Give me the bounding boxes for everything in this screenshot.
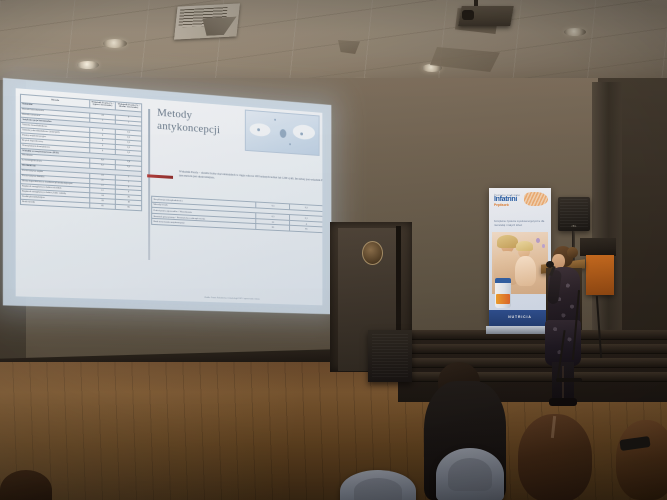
table-cell-ideal: 85 xyxy=(116,205,142,211)
porthole-window-icon xyxy=(362,241,383,265)
table-cell-ideal: 85 xyxy=(290,226,323,233)
red-accent-bar xyxy=(147,174,173,179)
permanent-methods-table: Sterylizacja (ubezpłodnienie)0,50,5Metod… xyxy=(151,196,322,233)
speaker-brand-badge: JBL xyxy=(571,225,577,228)
slide-left-column: Metoda Wskaźnik Pearla (% / typowe stoso… xyxy=(16,88,145,300)
anatomical-illustration xyxy=(245,110,320,156)
audience-head-right xyxy=(616,420,667,500)
cable-coil xyxy=(556,378,582,382)
conference-chair xyxy=(436,448,504,500)
slide-source-citation: Źródło: Forum Położnictwa i Ginekologii … xyxy=(204,297,259,301)
nutricia-logo: NUTRICIA xyxy=(508,315,531,319)
presenter-legs xyxy=(552,362,574,402)
table-cell-typical: 85 xyxy=(89,203,115,209)
banner-subtitle: Peptisorb xyxy=(494,204,546,207)
floor-subwoofer xyxy=(368,330,412,382)
banner-tagline: Kompletne żywienie wysokoenergetyczne dl… xyxy=(494,220,546,228)
microphone-icon xyxy=(546,261,554,268)
banner-heading: Żywienie medyczne Infatrini Peptisorb xyxy=(494,194,546,207)
orange-amplifier xyxy=(586,255,614,295)
presentation-slide: Metoda Wskaźnik Pearla (% / typowe stoso… xyxy=(16,88,323,305)
table-cell-typical: 85 xyxy=(256,224,290,231)
pa-speaker: JBL xyxy=(558,197,590,231)
lecture-hall-photo: Metoda Wskaźnik Pearla (% / typowe stoso… xyxy=(0,0,667,500)
presenter-shoes xyxy=(549,398,577,406)
pearl-index-text: Wskaźnik Pearla – określa liczbę ciąż za… xyxy=(179,169,322,187)
formula-can xyxy=(495,278,511,308)
slide-right-column: Metody antykoncepcji Wskaźnik Pearla – o… xyxy=(145,99,322,306)
presenter-hair-bun xyxy=(567,247,578,258)
contraception-methods-table: Metoda Wskaźnik Pearla (% / typowe stoso… xyxy=(20,94,142,212)
